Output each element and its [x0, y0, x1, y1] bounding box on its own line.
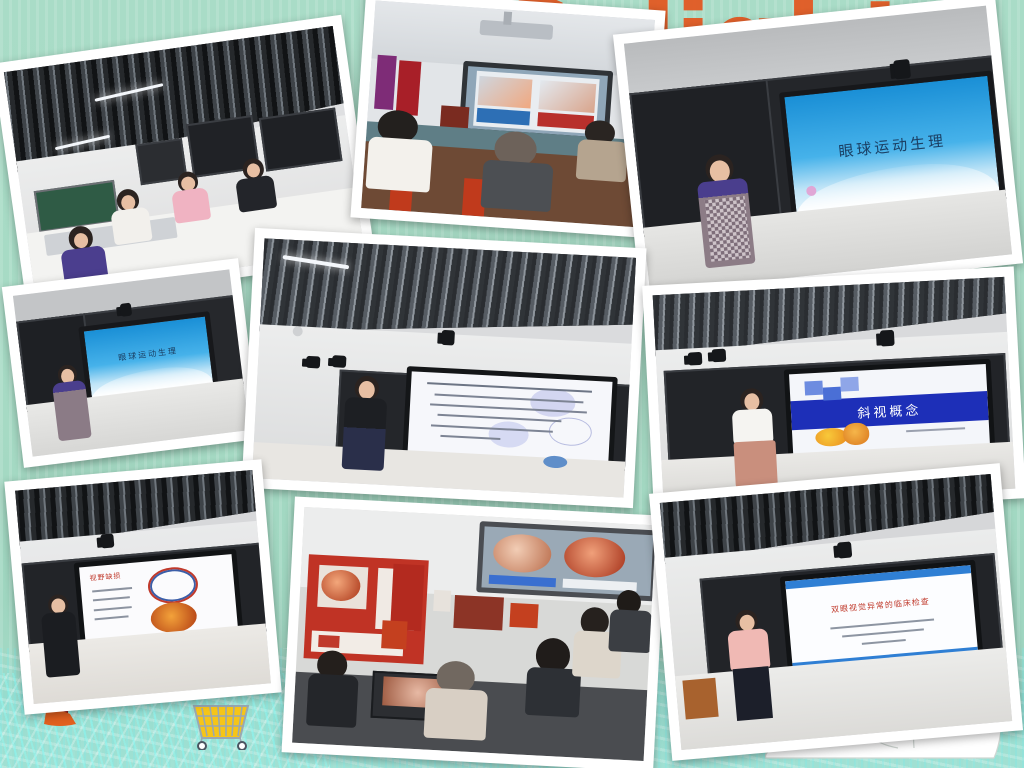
collage-photo-7[interactable]: 视野缺损 — [4, 459, 281, 715]
photo-3-slide-title: 眼球运动生理 — [790, 125, 995, 167]
photo-4-slide-title: 眼球运动生理 — [87, 342, 210, 368]
photo-4-image: 眼球运动生理 — [13, 269, 249, 456]
photo-3-image: 眼球运动生理 — [624, 6, 1012, 293]
collage-photo-3[interactable]: 眼球运动生理 — [613, 0, 1023, 303]
collage-photo-5[interactable] — [241, 228, 646, 508]
photo-9-image: 双眼视觉异常的临床检查 — [660, 474, 1012, 750]
shopping-cart-icon — [186, 698, 260, 750]
collage-canvas: Colight+ — [0, 0, 1024, 768]
photo-2-image — [361, 0, 655, 227]
photo-5-image — [252, 238, 636, 497]
ceiling-camera-icon — [893, 59, 911, 80]
photo-7-image: 视野缺损 — [15, 470, 271, 704]
photo-9-slide-title: 双眼视觉异常的临床检查 — [787, 592, 973, 619]
collage-photo-8[interactable] — [282, 496, 667, 768]
collage-photo-4[interactable]: 眼球运动生理 — [2, 258, 260, 468]
photo-8-image — [292, 507, 656, 761]
collage-photo-9[interactable]: 双眼视觉异常的临床检查 — [649, 463, 1023, 761]
